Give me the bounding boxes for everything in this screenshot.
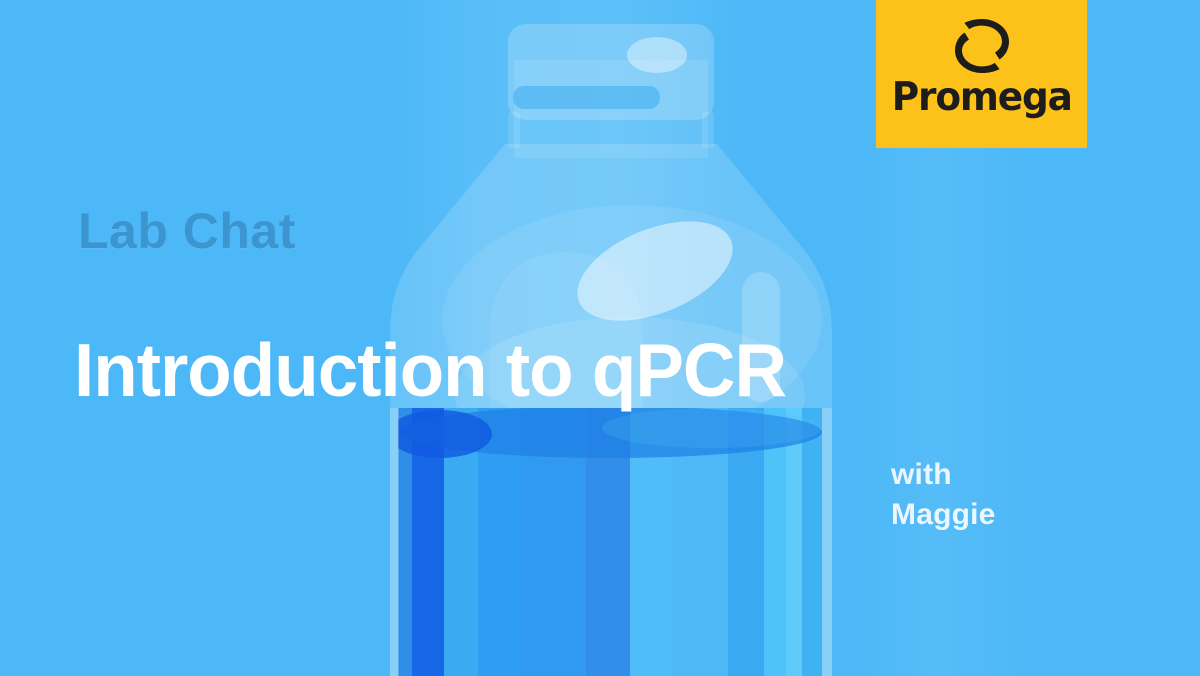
page-title: Introduction to qPCR <box>74 332 786 409</box>
bottle-cap-highlight <box>627 37 687 73</box>
bottle-cap-band <box>513 86 660 109</box>
host-credit: with Maggie <box>891 455 1091 535</box>
promega-logo: Promega <box>876 0 1087 148</box>
bottle-rim-right <box>822 408 832 676</box>
liquid-surface-shadow <box>388 410 492 458</box>
promega-wordmark: Promega <box>891 78 1071 117</box>
host-name: Maggie <box>891 495 1091 535</box>
host-prefix: with <box>891 455 1091 495</box>
liquid-surface-sheen <box>602 408 822 448</box>
bottle-rim-left <box>390 408 399 676</box>
promega-ring-icon <box>951 17 1013 75</box>
liquid-group <box>388 406 822 676</box>
liquid-band <box>802 408 822 676</box>
series-kicker: Lab Chat <box>78 206 296 256</box>
title-card: Lab Chat Introduction to qPCR with Maggi… <box>0 0 1200 676</box>
liquid-band <box>786 408 802 676</box>
